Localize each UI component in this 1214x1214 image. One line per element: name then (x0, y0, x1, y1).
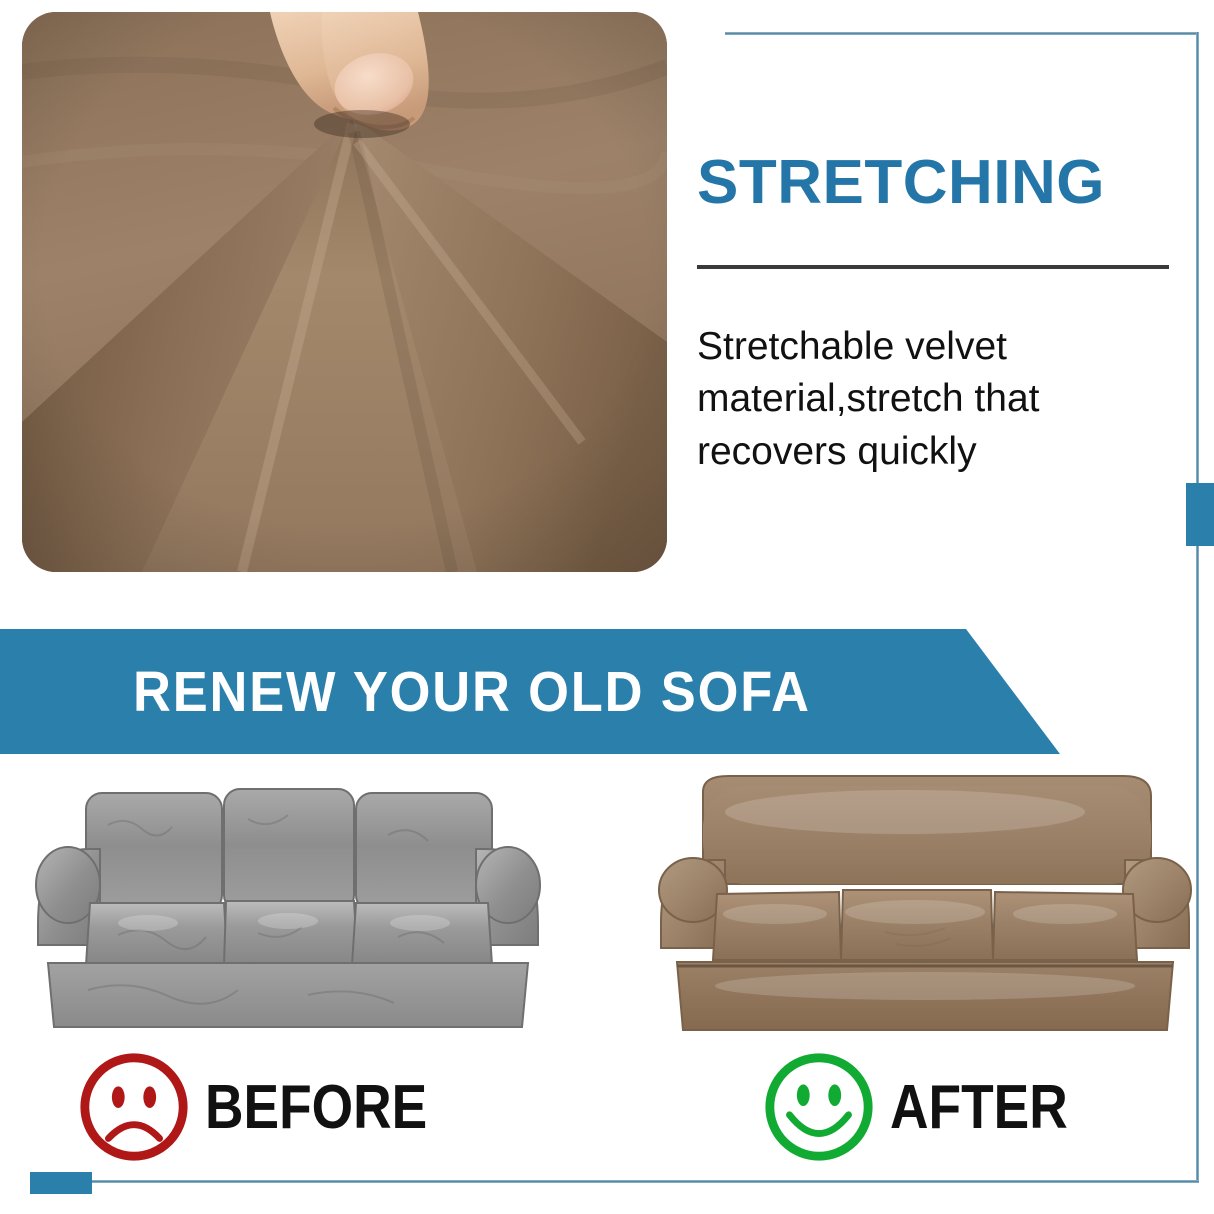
banner-title: RENEW YOUR OLD SOFA (133, 659, 811, 725)
sad-face-icon (75, 1048, 193, 1166)
smiley-face-icon (760, 1048, 878, 1166)
fabric-photo (22, 12, 667, 572)
frame-right-line (1196, 32, 1199, 1182)
frame-top-line (725, 32, 1199, 35)
frame-accent-block-bottom (30, 1172, 92, 1194)
feature-divider (697, 265, 1169, 269)
after-label-row: AFTER (760, 1048, 1097, 1166)
before-label: BEFORE (205, 1072, 427, 1143)
frame-bottom-line (60, 1180, 1199, 1183)
before-label-row: BEFORE (75, 1048, 463, 1166)
sofa-after-image (655, 772, 1195, 1040)
after-label: AFTER (890, 1072, 1068, 1143)
feature-block: STRETCHING Stretchable velvet material,s… (697, 150, 1177, 478)
sofa-before-image (28, 775, 548, 1037)
feature-title: STRETCHING (697, 150, 1177, 215)
product-infographic: STRETCHING Stretchable velvet material,s… (0, 0, 1214, 1214)
frame-accent-block-right (1186, 483, 1214, 546)
feature-description: Stretchable velvet material,stretch that… (697, 321, 1177, 478)
renew-banner: RENEW YOUR OLD SOFA (0, 629, 1060, 754)
